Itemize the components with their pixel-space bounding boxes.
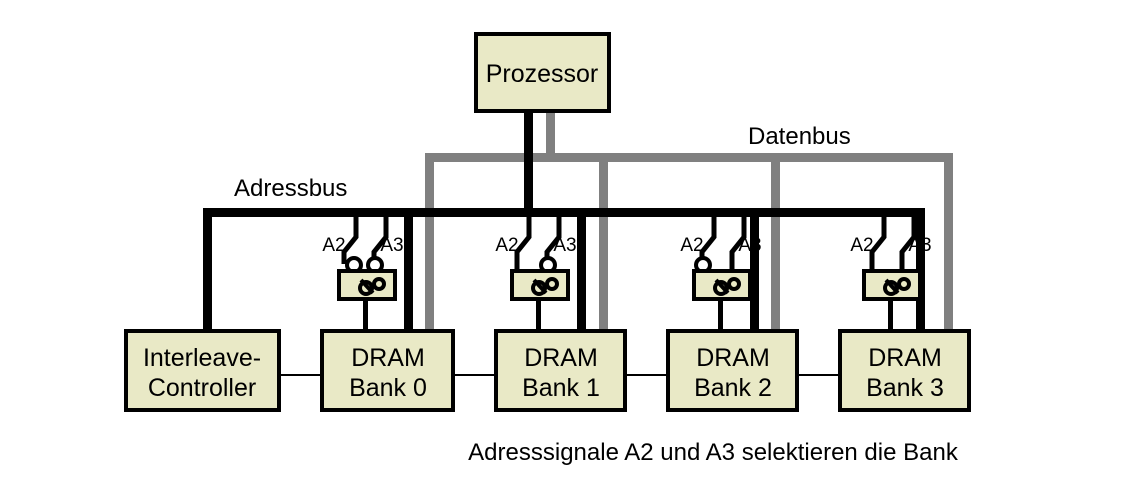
bank3-a2-tap-line — [872, 217, 884, 272]
dram-bank2-label-line2: Bank 2 — [694, 374, 772, 402]
dram-bank0-box[interactable]: DRAM Bank 0 — [322, 331, 453, 410]
dram-bank3-label-line2: Bank 3 — [866, 374, 944, 402]
bank0-select-output-line — [363, 299, 368, 331]
data-bus-drop-bank0 — [425, 153, 434, 331]
select-logic-bank1[interactable]: A2 A3 — [495, 217, 576, 331]
diagram-canvas: Prozessor Adressbus Datenbus A2 A3 — [0, 0, 1146, 500]
processor-box[interactable]: Prozessor — [476, 34, 609, 111]
interleave-controller-label-line1: Interleave- — [143, 344, 261, 372]
select-logic-bank0[interactable]: A2 A3 — [322, 217, 403, 331]
data-bus-drop-bank1 — [599, 153, 608, 331]
processor-label: Prozessor — [486, 60, 599, 88]
bank1-a3-label: A3 — [553, 235, 576, 256]
data-bus-drop-bank3 — [944, 153, 953, 331]
address-bus-drop-controller — [203, 208, 212, 331]
data-bus-drop-bank2 — [771, 153, 780, 331]
diagram-caption: Adresssignale A2 und A3 selektieren die … — [468, 439, 959, 466]
bank0-a2-label: A2 — [322, 235, 345, 256]
address-bus-rail — [203, 208, 925, 217]
dram-bank2-label-line1: DRAM — [696, 344, 770, 372]
bank0-a3-label: A3 — [380, 235, 403, 256]
address-bus-drop-bank1 — [577, 208, 586, 331]
bank3-a2-label: A2 — [850, 235, 873, 256]
data-bus-rail — [425, 153, 953, 162]
bank2-a3-label: A3 — [738, 235, 761, 256]
dram-bank3-box[interactable]: DRAM Bank 3 — [840, 331, 969, 410]
select-logic-bank2[interactable]: A2 A3 — [680, 217, 761, 331]
data-bus-label: Datenbus — [748, 123, 851, 150]
interleave-controller-label-line2: Controller — [148, 374, 256, 402]
address-bus-drop-bank0 — [404, 208, 413, 331]
bank2-a2-label: A2 — [680, 235, 703, 256]
interleave-controller-box[interactable]: Interleave- Controller — [126, 331, 279, 410]
bank3-a3-label: A3 — [908, 235, 931, 256]
dram-bank2-box[interactable]: DRAM Bank 2 — [668, 331, 797, 410]
bank2-select-output-line — [718, 299, 723, 331]
interleaving-diagram: Prozessor Adressbus Datenbus A2 A3 — [0, 0, 1146, 500]
address-bus-label: Adressbus — [234, 175, 347, 202]
dram-bank1-box[interactable]: DRAM Bank 1 — [496, 331, 625, 410]
dram-bank0-label-line1: DRAM — [351, 344, 425, 372]
address-bus-processor-stub — [524, 110, 533, 214]
dram-bank3-label-line1: DRAM — [868, 344, 942, 372]
bank1-a2-tap-line — [517, 217, 529, 272]
bank1-select-output-line — [536, 299, 541, 331]
dram-bank0-label-line2: Bank 0 — [349, 374, 427, 402]
dram-bank1-label-line1: DRAM — [524, 344, 598, 372]
dram-bank1-label-line2: Bank 1 — [522, 374, 600, 402]
bank1-a2-label: A2 — [495, 235, 518, 256]
bank3-select-output-line — [888, 299, 893, 331]
